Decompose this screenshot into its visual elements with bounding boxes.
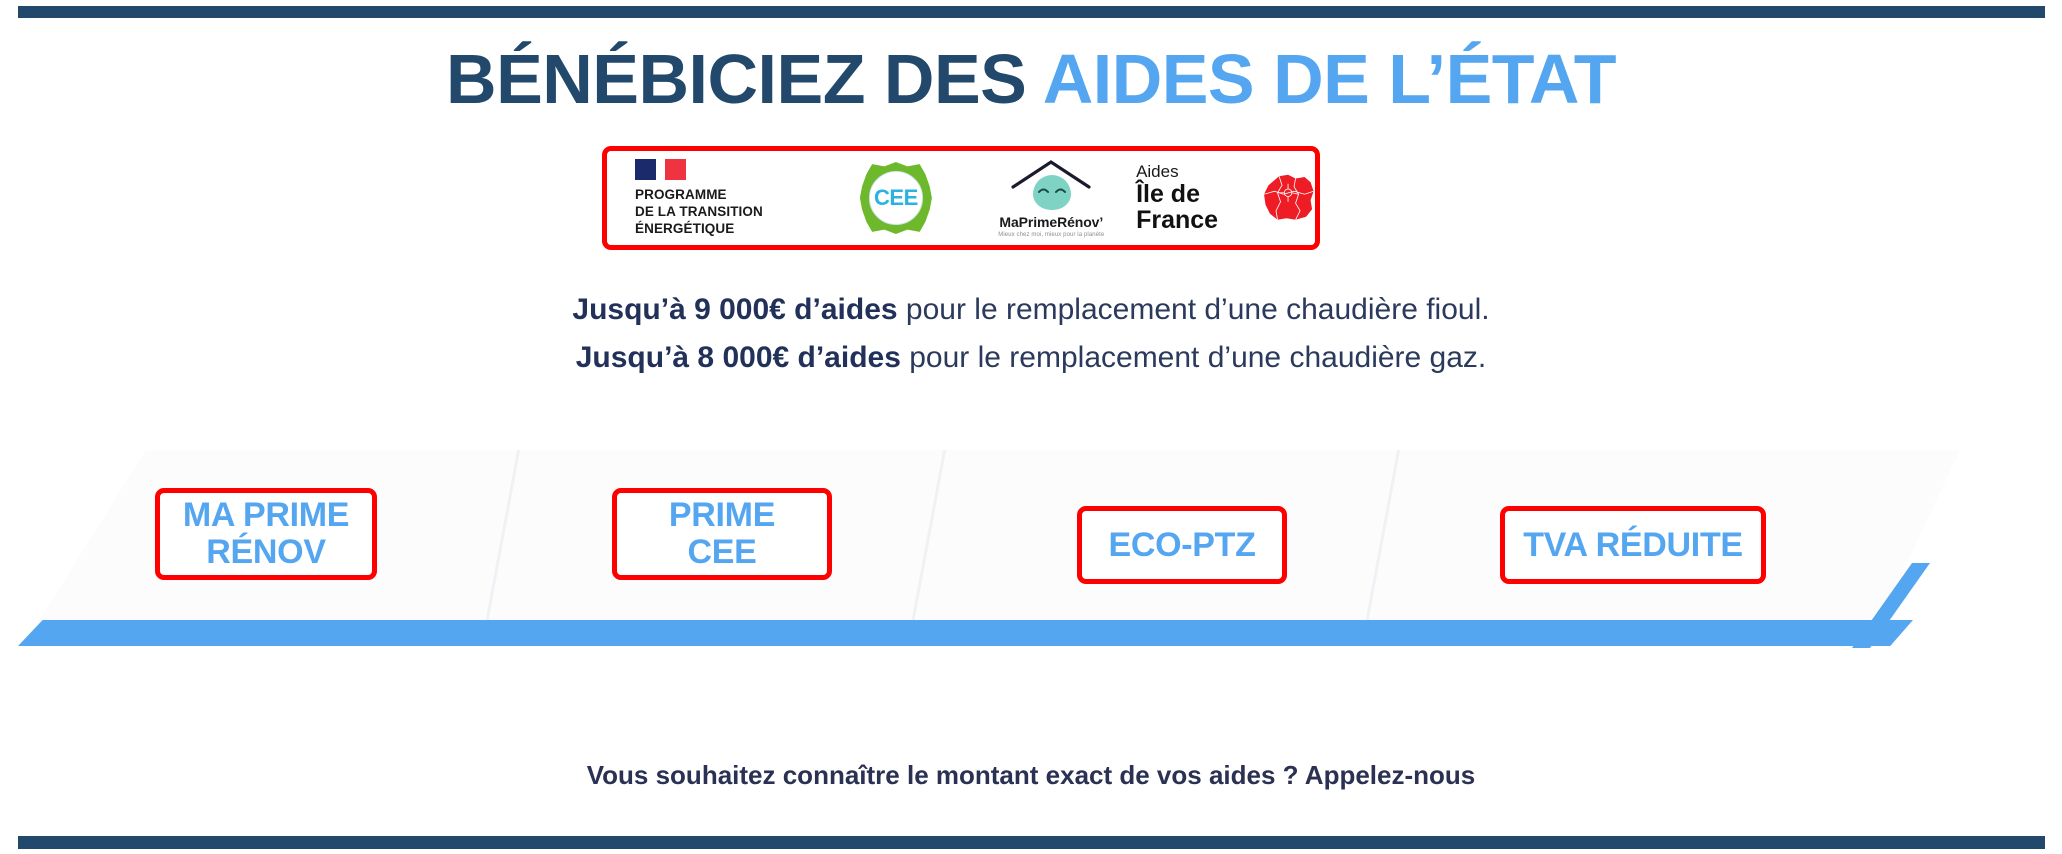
bottom-divider-bar <box>18 836 2045 849</box>
maprimerenov-name: MaPrimeRénov’ <box>999 214 1103 230</box>
aid-line-gaz: Jusqu’à 8 000€ d’aides pour le remplacem… <box>0 334 2062 382</box>
idf-line-1: Aides <box>1136 163 1251 181</box>
top-divider-bar <box>18 6 2045 18</box>
page-title-part1: BÉNÉBICIEZ DES <box>446 40 1043 118</box>
aid-line-fioul-amount: Jusqu’à 9 000€ d’aides <box>572 293 897 326</box>
logo-maprimerenov: MaPrimeRénov’ Mieux chez moi, mieux pour… <box>967 151 1137 245</box>
aid-chip-ma-prime-renov-line2: RÉNOV <box>183 534 349 571</box>
page-title-part2: AIDES DE L’ÉTAT <box>1043 40 1616 118</box>
page-root: BÉNÉBICIEZ DES AIDES DE L’ÉTAT PROGRAMME… <box>0 0 2062 854</box>
logo-programme-transition-energetique: PROGRAMME DE LA TRANSITION ÉNERGÉTIQUE <box>607 151 825 245</box>
idf-line-2: Île de France <box>1136 181 1251 234</box>
aid-chip-prime-cee-line1: PRIME <box>669 497 775 534</box>
aid-types-banner: MA PRIME RÉNOV + PRIME CEE + ECO-PTZ + T… <box>0 440 2062 660</box>
page-title: BÉNÉBICIEZ DES AIDES DE L’ÉTAT <box>0 44 2062 114</box>
logo-aides-ile-de-france: Aides Île de France <box>1136 151 1315 245</box>
maprimerenov-tagline: Mieux chez moi, mieux pour la planète <box>998 232 1104 238</box>
aid-line-fioul: Jusqu’à 9 000€ d’aides pour le remplacem… <box>0 286 2062 334</box>
cee-badge-icon: CEE <box>860 162 932 234</box>
partner-logos-box: PROGRAMME DE LA TRANSITION ÉNERGÉTIQUE C… <box>602 146 1320 250</box>
cee-label: CEE <box>874 185 918 211</box>
programme-line-1: PROGRAMME <box>635 186 763 203</box>
aid-chip-tva-reduite-line1: TVA RÉDUITE <box>1523 527 1743 564</box>
aid-line-gaz-amount: Jusqu’à 8 000€ d’aides <box>576 341 901 374</box>
aid-chip-eco-ptz-line1: ECO-PTZ <box>1108 527 1255 564</box>
maprimerenov-house-icon <box>1010 159 1092 211</box>
aid-chip-ma-prime-renov[interactable]: MA PRIME RÉNOV <box>155 488 377 580</box>
ile-de-france-map-icon <box>1261 167 1315 229</box>
aid-chip-eco-ptz[interactable]: ECO-PTZ <box>1077 506 1287 584</box>
aid-amount-lines: Jusqu’à 9 000€ d’aides pour le remplacem… <box>0 286 2062 382</box>
aid-chip-prime-cee-line2: CEE <box>669 534 775 571</box>
aid-chip-tva-reduite[interactable]: TVA RÉDUITE <box>1500 506 1766 584</box>
banner-blue-bar <box>18 620 1913 646</box>
aid-chip-prime-cee[interactable]: PRIME CEE <box>612 488 832 580</box>
contact-cta-text: Vous souhaitez connaître le montant exac… <box>0 760 2062 791</box>
french-flag-icon <box>635 159 763 180</box>
aid-chip-ma-prime-renov-line1: MA PRIME <box>183 497 349 534</box>
programme-line-2: DE LA TRANSITION <box>635 203 763 220</box>
aid-line-fioul-rest: pour le remplacement d’une chaudière fio… <box>898 293 1490 326</box>
programme-line-3: ÉNERGÉTIQUE <box>635 220 763 237</box>
logo-cee: CEE <box>825 151 966 245</box>
aid-line-gaz-rest: pour le remplacement d’une chaudière gaz… <box>901 341 1486 374</box>
